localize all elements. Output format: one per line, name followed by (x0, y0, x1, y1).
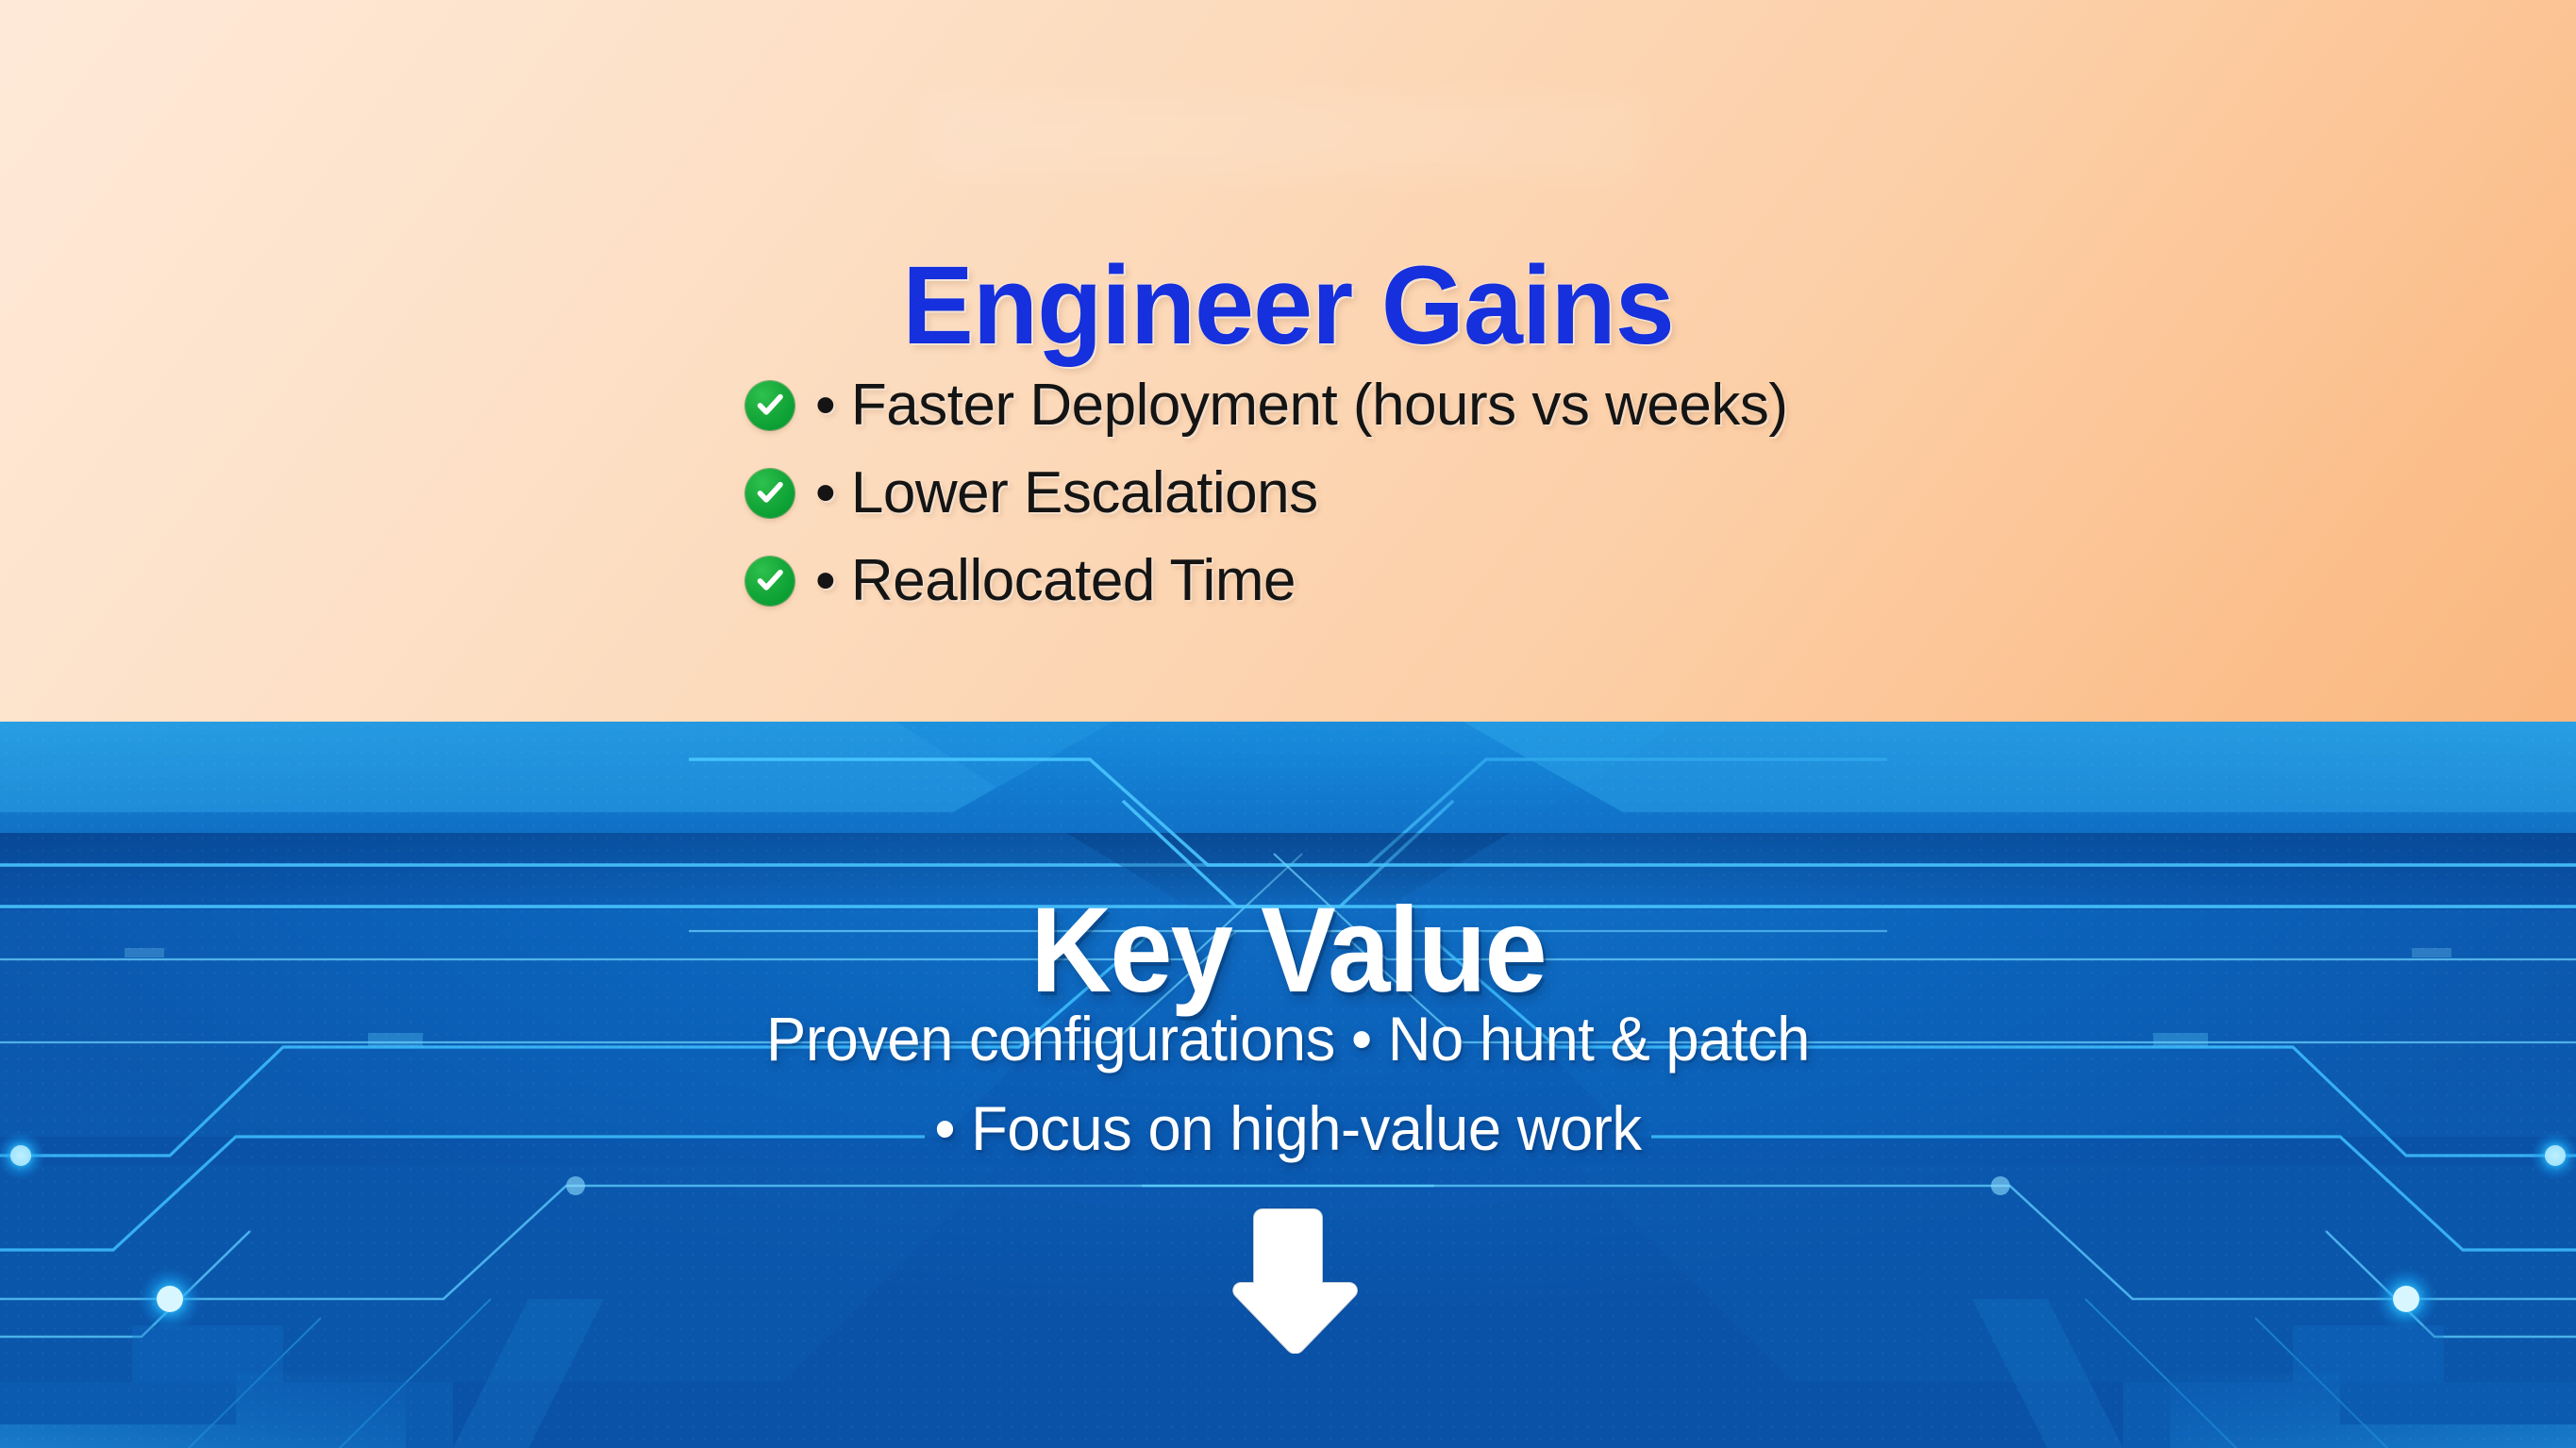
list-item-label: • Reallocated Time (815, 552, 1296, 610)
down-arrow-icon (1213, 1201, 1363, 1354)
check-mark-button-icon (745, 469, 795, 518)
engineer-gains-section: Engineer Gains • Faster Deployment (hour… (0, 0, 2576, 722)
key-value-subtitle: Proven configurations • No hunt & patch … (52, 994, 2525, 1173)
slide-canvas: Engineer Gains • Faster Deployment (hour… (0, 0, 2576, 1448)
key-value-subtitle-line-2: • Focus on high-value work (52, 1084, 2525, 1173)
check-mark-button-icon (745, 557, 795, 606)
engineer-gains-bullet-list: • Faster Deployment (hours vs weeks) • L… (0, 361, 2576, 624)
list-item-label: • Faster Deployment (hours vs weeks) (815, 376, 1788, 435)
list-item: • Faster Deployment (hours vs weeks) (0, 361, 2576, 449)
key-value-subtitle-line-1: Proven configurations • No hunt & patch (52, 994, 2525, 1084)
list-item-label: • Lower Escalations (815, 464, 1318, 523)
background-haze (925, 94, 1642, 177)
list-item: • Lower Escalations (0, 449, 2576, 537)
check-mark-button-icon (745, 381, 795, 430)
engineer-gains-title: Engineer Gains (52, 250, 2525, 361)
list-item: • Reallocated Time (0, 537, 2576, 624)
